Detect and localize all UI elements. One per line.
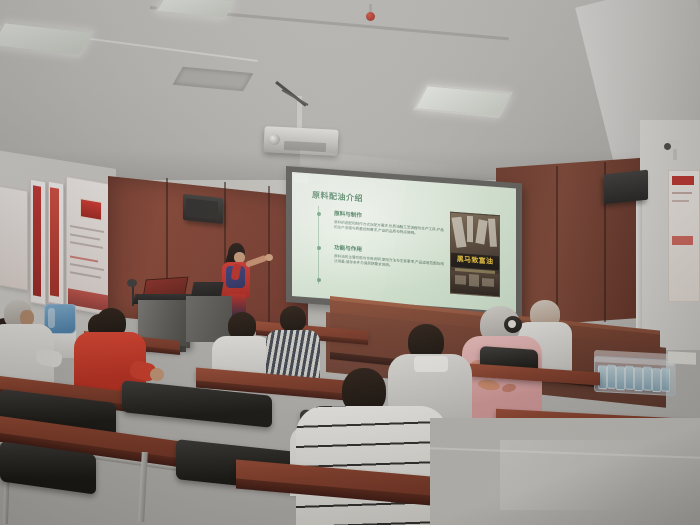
water-jug-highlight (48, 308, 55, 328)
attendee-torso (296, 406, 448, 525)
poster-detail (455, 275, 466, 285)
water-bottle (616, 366, 625, 390)
poster-figure (451, 217, 466, 248)
camera-mount (673, 149, 677, 160)
projector-lens-icon (268, 134, 280, 145)
water-bottle (643, 366, 652, 390)
water-bottle (661, 367, 670, 391)
wall-speaker-right (604, 170, 648, 205)
speaker-grille (186, 198, 218, 219)
poster-detail (469, 274, 479, 287)
paper-stack (668, 351, 696, 364)
poster-text-line (672, 192, 692, 194)
poster-accent-bar (672, 236, 693, 245)
classroom-photo: 原料配油介绍 原料与制作 原料的选配和制作方式及配方要求,优质油脂工艺流程与生产… (0, 0, 700, 525)
wall-board-banner (50, 187, 59, 297)
projection-screen: 原料配油介绍 原料与制作 原料的选配和制作方式及配方要求,优质油脂工艺流程与生产… (292, 172, 516, 312)
water-bottle (625, 365, 634, 389)
poster-figure (467, 216, 473, 242)
poster-detail (482, 278, 494, 287)
wall-board-banner (33, 185, 41, 296)
poster-text-line (672, 200, 689, 202)
microphone-icon (127, 279, 137, 287)
wood-panel-seam (556, 166, 558, 326)
water-bottle (634, 367, 643, 391)
attendee-collar (414, 356, 448, 372)
poster-figure (488, 219, 497, 247)
fire-sprinkler-icon (366, 12, 375, 21)
attendee-torso (266, 330, 320, 378)
bottled-water-case (594, 356, 676, 396)
camera-lens-icon (664, 143, 671, 150)
wall-board-emblem (80, 198, 102, 221)
water-bottle (607, 365, 616, 389)
slide-poster-image: 黑马致富油 (450, 212, 500, 298)
attendee-hand (150, 368, 164, 381)
wall-display-board (0, 185, 28, 290)
water-bottle (652, 368, 661, 392)
hair-clip-detail (508, 320, 516, 328)
attendee-head (280, 306, 306, 332)
poster-figure (475, 219, 487, 244)
poster-header-bar (672, 176, 694, 185)
presenter-hand (265, 254, 273, 261)
